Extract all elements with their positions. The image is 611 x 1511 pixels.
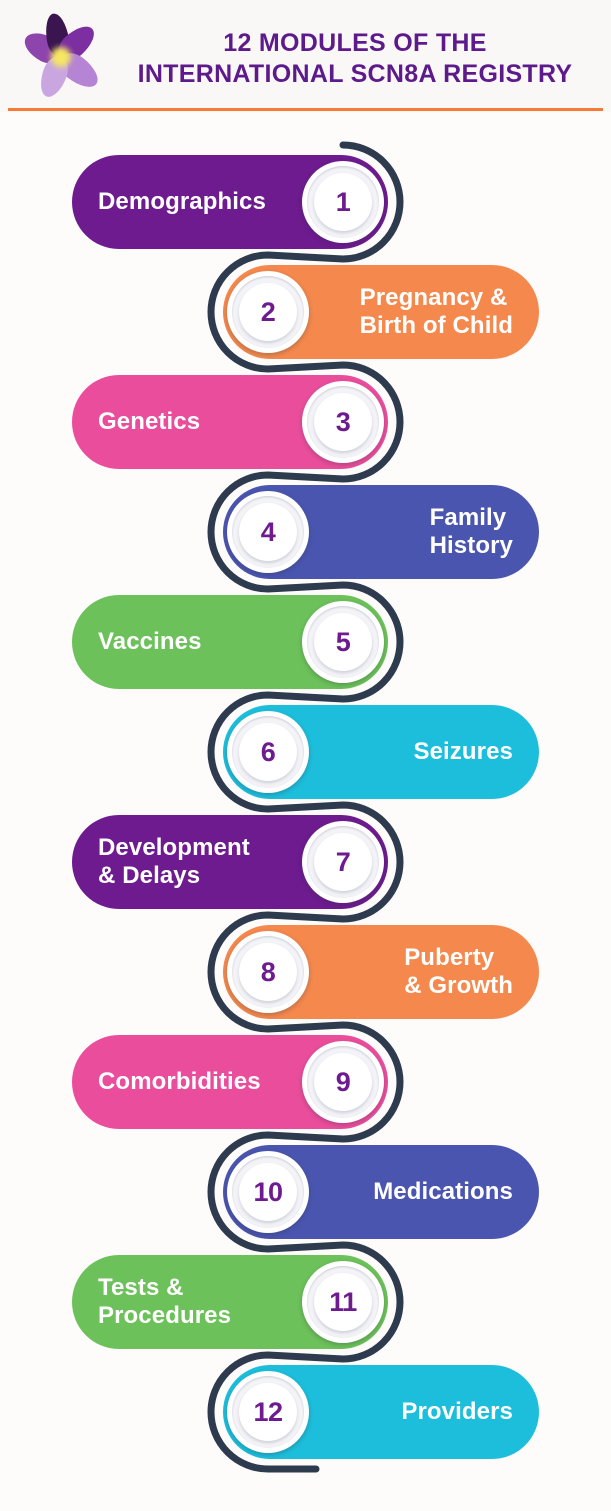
module-row-9[interactable]: Comorbidities9 (72, 1035, 388, 1129)
module-label: Providers (401, 1398, 513, 1426)
module-number-badge[interactable]: 12 (227, 1371, 309, 1453)
module-pill-1[interactable]: Demographics1 (72, 155, 388, 249)
module-pill-11[interactable]: Tests & Procedures11 (72, 1255, 388, 1349)
module-number: 12 (253, 1397, 282, 1428)
module-number: 9 (336, 1067, 351, 1098)
module-pill-12[interactable]: Providers12 (223, 1365, 539, 1459)
module-pill-2[interactable]: Pregnancy & Birth of Child2 (223, 265, 539, 359)
module-number-badge[interactable]: 2 (227, 271, 309, 353)
module-row-8[interactable]: Puberty & Growth8 (223, 925, 539, 1019)
module-number: 2 (261, 297, 276, 328)
module-pill-6[interactable]: Seizures6 (223, 705, 539, 799)
module-label: Genetics (98, 408, 200, 436)
module-row-3[interactable]: Genetics3 (72, 375, 388, 469)
module-number: 11 (329, 1287, 357, 1318)
page-header: 12 MODULES OF THE INTERNATIONAL SCN8A RE… (0, 0, 611, 112)
module-row-6[interactable]: Seizures6 (223, 705, 539, 799)
module-row-4[interactable]: Family History4 (223, 485, 539, 579)
module-number: 10 (253, 1177, 282, 1208)
module-number: 8 (261, 957, 276, 988)
module-number-badge[interactable]: 4 (227, 491, 309, 573)
module-row-1[interactable]: Demographics1 (72, 155, 388, 249)
module-label: Family History (430, 504, 513, 560)
module-number: 6 (261, 737, 276, 768)
module-row-5[interactable]: Vaccines5 (72, 595, 388, 689)
module-number-badge[interactable]: 1 (302, 161, 384, 243)
module-number-badge[interactable]: 8 (227, 931, 309, 1013)
module-pill-7[interactable]: Development & Delays7 (72, 815, 388, 909)
module-label: Seizures (413, 738, 513, 766)
module-pill-8[interactable]: Puberty & Growth8 (223, 925, 539, 1019)
module-number-badge[interactable]: 9 (302, 1041, 384, 1123)
module-number: 7 (336, 847, 351, 878)
module-pill-3[interactable]: Genetics3 (72, 375, 388, 469)
module-label: Demographics (98, 188, 266, 216)
module-label: Pregnancy & Birth of Child (360, 284, 513, 340)
violet-flower-logo (18, 14, 104, 100)
module-label: Tests & Procedures (98, 1274, 231, 1330)
module-number: 1 (336, 187, 351, 218)
header-divider (8, 108, 603, 111)
module-pill-9[interactable]: Comorbidities9 (72, 1035, 388, 1129)
module-row-11[interactable]: Tests & Procedures11 (72, 1255, 388, 1349)
module-pill-4[interactable]: Family History4 (223, 485, 539, 579)
module-number-badge[interactable]: 3 (302, 381, 384, 463)
title-line-2: INTERNATIONAL SCN8A REGISTRY (138, 60, 573, 88)
module-number-badge[interactable]: 10 (227, 1151, 309, 1233)
module-label: Vaccines (98, 628, 202, 656)
module-number-badge[interactable]: 7 (302, 821, 384, 903)
module-number: 3 (336, 407, 351, 438)
module-number-badge[interactable]: 11 (302, 1261, 384, 1343)
module-pill-5[interactable]: Vaccines5 (72, 595, 388, 689)
module-label: Medications (373, 1178, 513, 1206)
module-number: 5 (336, 627, 351, 658)
module-row-7[interactable]: Development & Delays7 (72, 815, 388, 909)
module-label: Comorbidities (98, 1068, 261, 1096)
module-pill-10[interactable]: Medications10 (223, 1145, 539, 1239)
title-line-1: 12 MODULES OF THE (223, 29, 486, 57)
module-label: Development & Delays (98, 834, 250, 890)
module-number-badge[interactable]: 5 (302, 601, 384, 683)
page-title: 12 MODULES OF THE INTERNATIONAL SCN8A RE… (110, 18, 600, 98)
module-row-12[interactable]: Providers12 (223, 1365, 539, 1459)
module-label: Puberty & Growth (404, 944, 513, 1000)
module-row-2[interactable]: Pregnancy & Birth of Child2 (223, 265, 539, 359)
module-number-badge[interactable]: 6 (227, 711, 309, 793)
module-row-10[interactable]: Medications10 (223, 1145, 539, 1239)
module-number: 4 (261, 517, 276, 548)
flower-center (51, 47, 71, 67)
